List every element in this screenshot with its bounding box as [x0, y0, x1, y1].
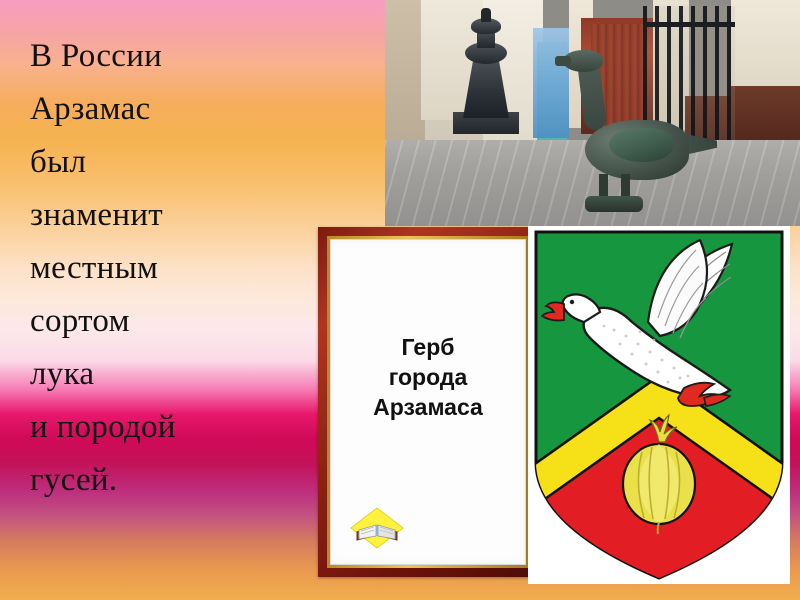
text-line: В России	[30, 30, 330, 83]
photo-iron-fence-rail	[643, 22, 735, 27]
herb-caption-line: Арзамаса	[331, 392, 525, 422]
photo-goose-pedestal	[585, 196, 643, 212]
photo-goose-beak	[555, 56, 571, 66]
herb-caption-line: города	[331, 362, 525, 392]
card-inner-surface: Герб города Арзамаса	[330, 239, 526, 565]
text-line: местным	[30, 242, 330, 295]
open-book-icon	[349, 506, 405, 550]
text-line: и породой	[30, 401, 330, 454]
photo-goose-wing	[609, 128, 673, 162]
text-line: лука	[30, 348, 330, 401]
text-line: был	[30, 136, 330, 189]
photo-blue-door	[533, 28, 569, 138]
herb-caption-text: Герб города Арзамаса	[331, 332, 525, 422]
text-line: гусей.	[30, 454, 330, 507]
coat-of-arms-svg	[528, 226, 790, 584]
photo-backdrop-edge	[385, 0, 425, 146]
herb-caption-line: Герб	[331, 332, 525, 362]
slide-text-block: В России Арзамас был знаменит местным со…	[30, 30, 330, 507]
text-line: сортом	[30, 295, 330, 348]
slide-canvas: В России Арзамас был знаменит местным со…	[0, 0, 800, 600]
herb-caption-card: Герб города Арзамаса	[318, 227, 538, 577]
goose-statue-photo	[385, 0, 800, 226]
photo-brick-base	[731, 86, 800, 142]
coat-of-arms-image	[528, 226, 790, 584]
text-line: Арзамас	[30, 83, 330, 136]
text-line: знаменит	[30, 189, 330, 242]
photo-lamppost-tip	[481, 8, 491, 22]
